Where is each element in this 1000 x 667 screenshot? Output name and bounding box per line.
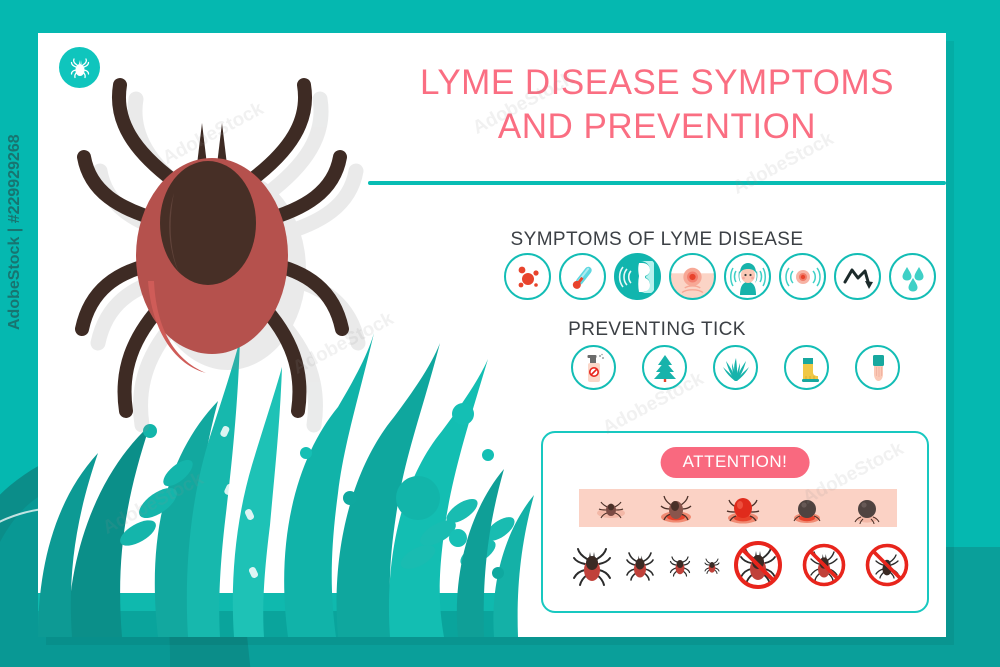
decor-dot: [396, 476, 440, 520]
no-tick-medium-sign[interactable]: [802, 543, 846, 587]
skin-rash-icon[interactable]: [669, 253, 716, 300]
bacteria-icon[interactable]: [504, 253, 551, 300]
symptoms-heading: SYMPTOMS OF LYME DISEASE: [368, 229, 946, 251]
decor-dot: [343, 491, 357, 505]
logo-badge[interactable]: [59, 47, 100, 88]
tick-stage-4: [786, 490, 828, 526]
prevention-heading: PREVENTING TICK: [368, 319, 946, 341]
decor-dot: [482, 449, 494, 461]
joint-glyph: [618, 257, 658, 297]
rubber-boot-glyph: [791, 352, 823, 384]
long-sleeve-icon[interactable]: [855, 345, 900, 390]
headache-icon[interactable]: [724, 253, 771, 300]
decor-dot: [452, 403, 474, 425]
title-line-2: AND PREVENTION: [368, 105, 946, 149]
infographic-poster: LYME DISEASE SYMPTOMS AND PREVENTION SYM…: [0, 0, 1000, 667]
tick-illustration: [56, 53, 396, 453]
tick-size-nymph: [668, 554, 692, 578]
tick-size-comparison: [571, 541, 721, 591]
poster-card: LYME DISEASE SYMPTOMS AND PREVENTION SYM…: [38, 33, 946, 637]
title-line-1: LYME DISEASE SYMPTOMS: [368, 61, 946, 105]
head-glyph: [728, 257, 768, 297]
bacteria-glyph: [511, 260, 545, 294]
decor-dot: [492, 567, 504, 579]
no-tick-large-sign[interactable]: [733, 540, 783, 590]
tick-stage-5: [847, 490, 887, 526]
prohibition-signs-row: [733, 539, 909, 591]
attention-panel: ATTENTION!: [541, 431, 929, 613]
symptoms-icon-row: [504, 253, 936, 300]
drops-glyph: [895, 259, 931, 295]
tree-icon[interactable]: [642, 345, 687, 390]
tick-stage-2: [652, 489, 700, 527]
fatigue-chart-icon[interactable]: [834, 253, 881, 300]
page-title: LYME DISEASE SYMPTOMS AND PREVENTION: [368, 61, 946, 149]
thermometer-glyph: [566, 260, 600, 294]
spray-glyph: [578, 352, 610, 384]
joint-pain-icon[interactable]: [614, 253, 661, 300]
bite-spot-icon[interactable]: [779, 253, 826, 300]
tick-size-adult: [571, 545, 613, 587]
grass-glyph: [720, 352, 752, 384]
sweat-drops-icon[interactable]: [889, 253, 936, 300]
tick-scutum: [160, 161, 256, 285]
tick-size-male: [624, 550, 656, 582]
tick-stage-3: [720, 489, 766, 527]
tick-size-larva: [703, 557, 721, 575]
pine-tree-glyph: [649, 352, 681, 384]
attention-badge: ATTENTION!: [661, 447, 810, 478]
grass-icon[interactable]: [713, 345, 758, 390]
bite-glyph: [783, 257, 823, 297]
title-divider: [368, 181, 946, 185]
boot-icon[interactable]: [784, 345, 829, 390]
tick-engorgement-strip: [579, 489, 897, 527]
decor-dot: [449, 529, 467, 547]
down-arrow-glyph: [838, 257, 878, 297]
rash-glyph: [671, 253, 714, 300]
tick-stage-1: [589, 491, 633, 525]
no-tick-small-sign[interactable]: [865, 543, 909, 587]
sleeve-hand-glyph: [862, 352, 894, 384]
tick-icon: [69, 57, 91, 79]
repellent-spray-icon[interactable]: [571, 345, 616, 390]
prevention-icon-row: [571, 345, 900, 390]
thermometer-icon[interactable]: [559, 253, 606, 300]
